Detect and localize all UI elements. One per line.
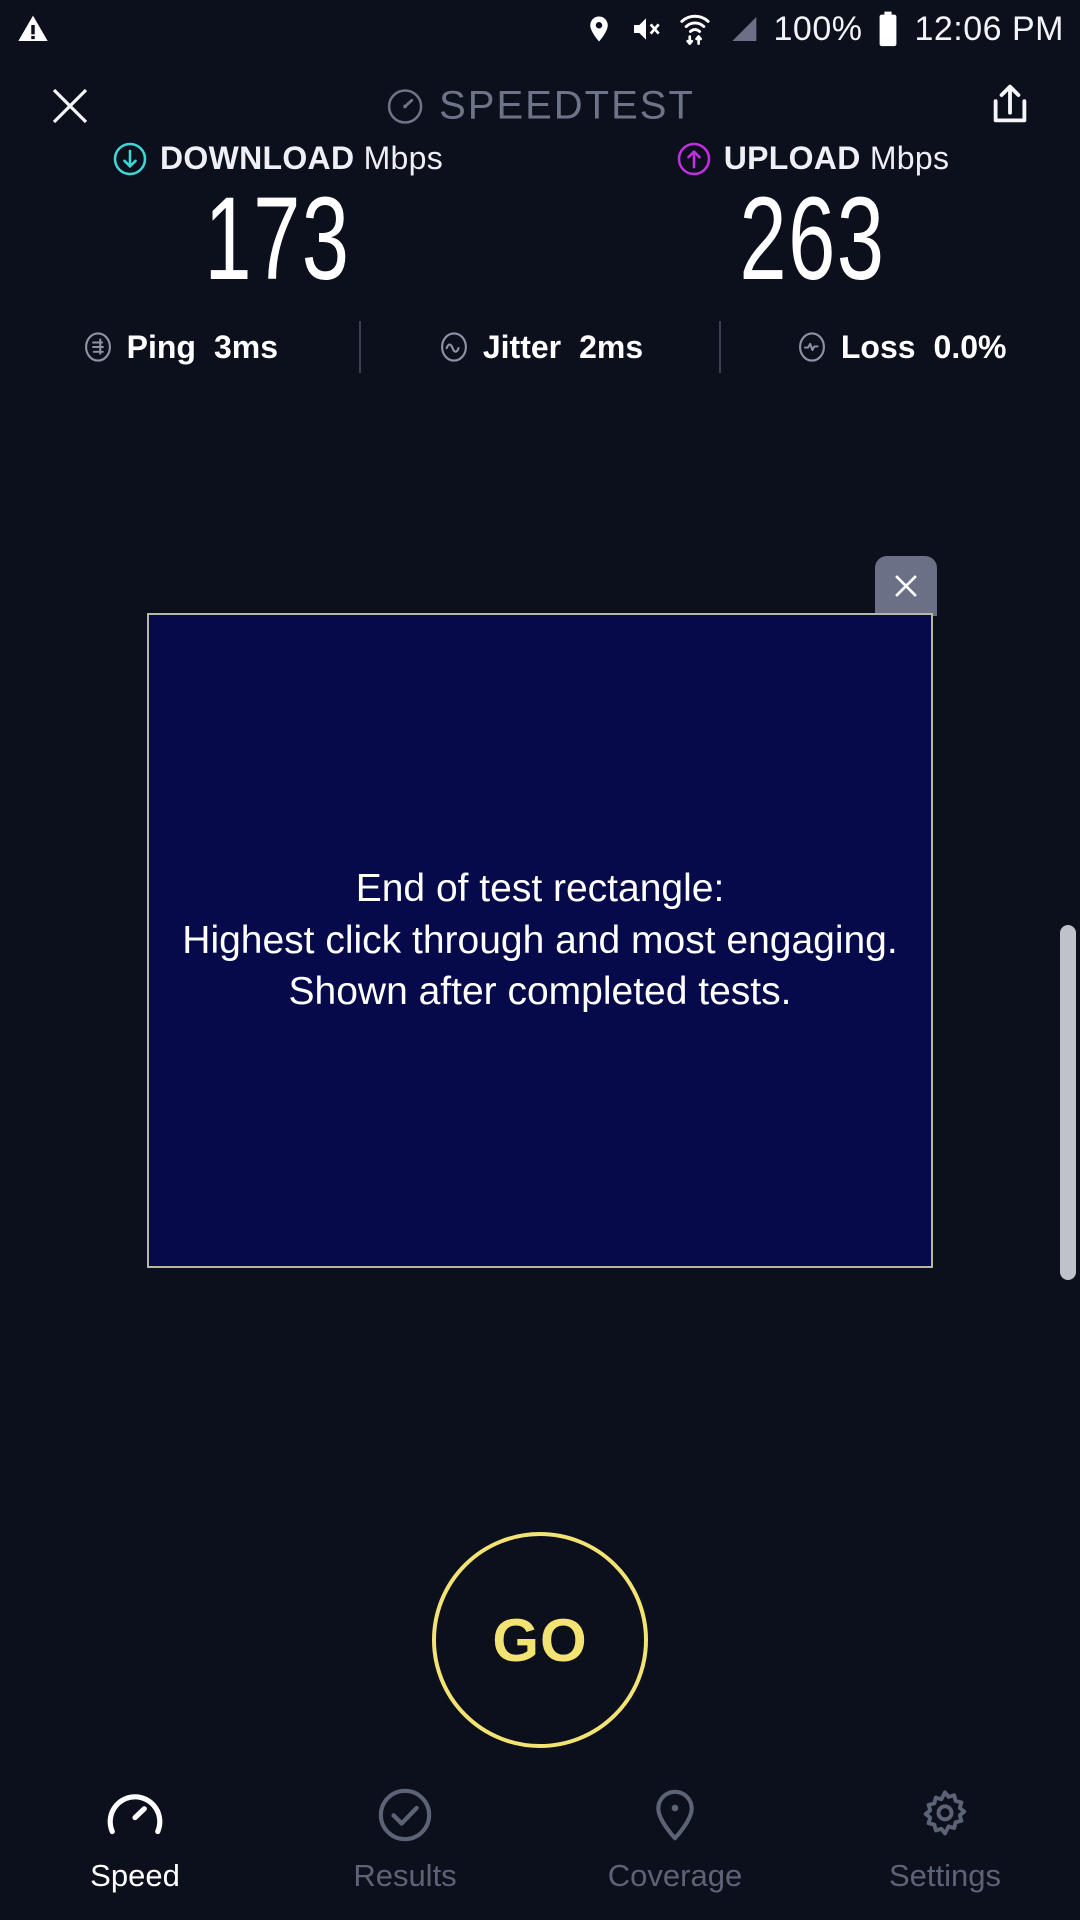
share-button[interactable] xyxy=(980,76,1040,136)
metric-loss: Loss 0.0% xyxy=(721,329,1080,366)
map-pin-icon xyxy=(644,1786,706,1844)
cell-signal-icon xyxy=(726,13,760,45)
circle-arrow-up-icon xyxy=(676,141,712,177)
upload-value: 263 xyxy=(739,179,885,299)
connection-metrics: Ping 3ms Jitter 2ms xyxy=(0,321,1080,373)
bottom-navigation-bar: Speed Results Coverage xyxy=(0,1760,1080,1920)
speed-readouts: DOWNLOAD Mbps 173 UPLOAD Mbps 263 xyxy=(0,140,1080,299)
volume-mute-icon xyxy=(628,13,664,45)
location-pin-icon xyxy=(584,12,614,46)
share-icon xyxy=(987,81,1033,131)
ad-line-2: Highest click through and most engaging. xyxy=(182,916,897,966)
upload-result: UPLOAD Mbps 263 xyxy=(545,140,1080,299)
circle-arrow-down-icon xyxy=(112,141,148,177)
close-icon xyxy=(46,82,94,130)
ad-banner[interactable]: End of test rectangle: Highest click thr… xyxy=(147,613,933,1268)
loss-icon xyxy=(795,330,829,364)
ping-label: Ping xyxy=(127,329,196,366)
warning-triangle-icon xyxy=(16,13,50,45)
advertisement-container: End of test rectangle: Highest click thr… xyxy=(147,613,933,1268)
jitter-label: Jitter xyxy=(483,329,561,366)
loss-value: 0.0% xyxy=(934,329,1007,366)
ad-line-3: Shown after completed tests. xyxy=(289,967,792,1017)
jitter-value: 2ms xyxy=(579,329,643,366)
download-value: 173 xyxy=(204,179,350,299)
app-title-group: SPEEDTEST xyxy=(385,84,695,129)
nav-item-results[interactable]: Results xyxy=(270,1760,540,1920)
upload-label-unit: Mbps xyxy=(870,140,949,176)
loss-label: Loss xyxy=(841,329,916,366)
status-bar-right: 100% 12:06 PM xyxy=(584,10,1065,49)
upload-label-bold: UPLOAD xyxy=(724,140,861,176)
vertical-scrollbar-thumb[interactable] xyxy=(1060,925,1076,1280)
nav-label-speed: Speed xyxy=(90,1858,180,1894)
jitter-icon xyxy=(437,330,471,364)
speedometer-icon xyxy=(385,86,425,126)
download-label-row: DOWNLOAD Mbps xyxy=(112,140,443,177)
status-bar-left xyxy=(16,13,50,45)
nav-item-speed[interactable]: Speed xyxy=(0,1760,270,1920)
nav-label-settings: Settings xyxy=(889,1858,1001,1894)
status-bar: 100% 12:06 PM xyxy=(0,0,1080,58)
test-results-panel: DOWNLOAD Mbps 173 UPLOAD Mbps 263 xyxy=(0,140,1080,373)
battery-full-icon xyxy=(876,11,900,47)
download-label-unit: Mbps xyxy=(364,140,443,176)
close-icon xyxy=(889,569,923,603)
download-label: DOWNLOAD Mbps xyxy=(160,140,443,177)
download-label-bold: DOWNLOAD xyxy=(160,140,354,176)
upload-label: UPLOAD Mbps xyxy=(724,140,950,177)
upload-label-row: UPLOAD Mbps xyxy=(676,140,950,177)
close-button[interactable] xyxy=(38,74,102,138)
ping-icon xyxy=(81,330,115,364)
ping-value: 3ms xyxy=(214,329,278,366)
metric-jitter: Jitter 2ms xyxy=(361,329,720,366)
go-button[interactable]: GO xyxy=(432,1532,648,1748)
page-title: SPEEDTEST xyxy=(439,84,695,129)
speedtest-app-screen: 100% 12:06 PM SP xyxy=(0,0,1080,1920)
nav-item-settings[interactable]: Settings xyxy=(810,1760,1080,1920)
go-button-label: GO xyxy=(492,1606,587,1675)
nav-label-coverage: Coverage xyxy=(608,1858,742,1894)
speedometer-icon xyxy=(104,1786,166,1844)
status-bar-clock: 12:06 PM xyxy=(914,10,1064,49)
gear-icon xyxy=(914,1786,976,1844)
ad-text-block: End of test rectangle: Highest click thr… xyxy=(149,615,931,1266)
wifi-icon xyxy=(678,11,712,47)
check-circle-icon xyxy=(374,1786,436,1844)
battery-percent-label: 100% xyxy=(774,10,863,49)
nav-label-results: Results xyxy=(353,1858,456,1894)
metric-ping: Ping 3ms xyxy=(0,329,359,366)
ad-line-1: End of test rectangle: xyxy=(356,864,725,914)
ad-close-button[interactable] xyxy=(875,556,937,616)
download-result: DOWNLOAD Mbps 173 xyxy=(0,140,545,299)
nav-item-coverage[interactable]: Coverage xyxy=(540,1760,810,1920)
